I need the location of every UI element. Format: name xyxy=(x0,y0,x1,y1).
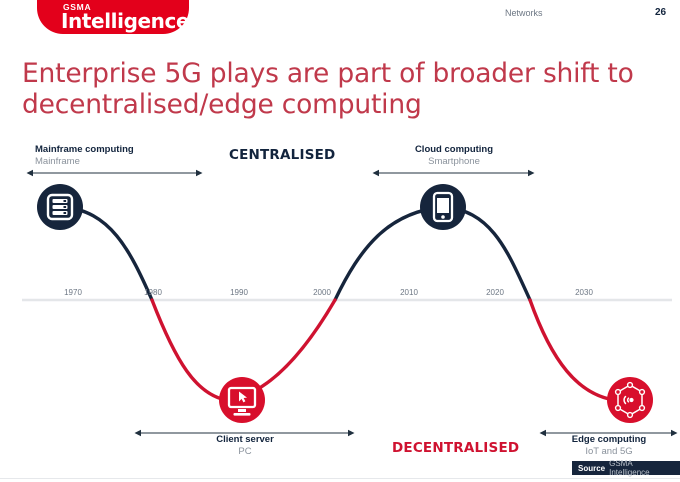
tick-2030: 2030 xyxy=(564,288,604,297)
client-server-era-label: Client server PC xyxy=(140,434,350,458)
tick-1990: 1990 xyxy=(219,288,259,297)
desktop-cursor-icon[interactable] xyxy=(219,377,265,423)
mainframe-era-label: Mainframe computing Mainframe xyxy=(35,144,134,168)
wave-red-edge-descend xyxy=(530,300,614,400)
client-server-era-subtitle: PC xyxy=(140,446,350,458)
cloud-era-subtitle: Smartphone xyxy=(378,156,530,168)
slide: GSMA Intelligence Networks 26 Enterprise… xyxy=(0,0,680,482)
edge-era-subtitle: IoT and 5G xyxy=(545,446,673,458)
gsma-intelligence-logo: GSMA Intelligence xyxy=(37,0,189,34)
tick-2020: 2020 xyxy=(475,288,515,297)
mainframe-era-subtitle: Mainframe xyxy=(35,156,134,168)
page-title: Enterprise 5G plays are part of broader … xyxy=(22,58,652,121)
client-server-era-title: Client server xyxy=(140,434,350,446)
page-number: 26 xyxy=(655,7,666,18)
tick-1970: 1970 xyxy=(53,288,93,297)
computing-paradigm-chart: Mainframe computing Mainframe Cloud comp… xyxy=(0,130,680,470)
centralised-annotation: CENTRALISED xyxy=(229,147,335,163)
cloud-era-title: Cloud computing xyxy=(378,144,530,156)
smartphone-icon[interactable] xyxy=(420,184,466,230)
source-keyword: Source xyxy=(578,464,605,473)
chart-svg xyxy=(0,130,680,470)
source-tag: Source GSMA Intelligence xyxy=(572,461,680,475)
tick-1980: 1980 xyxy=(133,288,173,297)
footer-divider xyxy=(0,478,680,479)
server-rack-icon[interactable] xyxy=(37,184,83,230)
cloud-era-label: Cloud computing Smartphone xyxy=(378,144,530,168)
tick-2000: 2000 xyxy=(302,288,342,297)
header-section-label: Networks xyxy=(505,8,543,18)
tick-2010: 2010 xyxy=(389,288,429,297)
mainframe-era-title: Mainframe computing xyxy=(35,144,134,156)
logo-intelligence-text: Intelligence xyxy=(61,9,189,33)
wave-red-client-descend xyxy=(152,300,226,400)
edge-era-title: Edge computing xyxy=(545,434,673,446)
source-value: GSMA Intelligence xyxy=(609,459,674,477)
iot-network-icon[interactable] xyxy=(607,377,653,423)
edge-era-label: Edge computing IoT and 5G xyxy=(545,434,673,458)
decentralised-annotation: DECENTRALISED xyxy=(392,440,519,456)
